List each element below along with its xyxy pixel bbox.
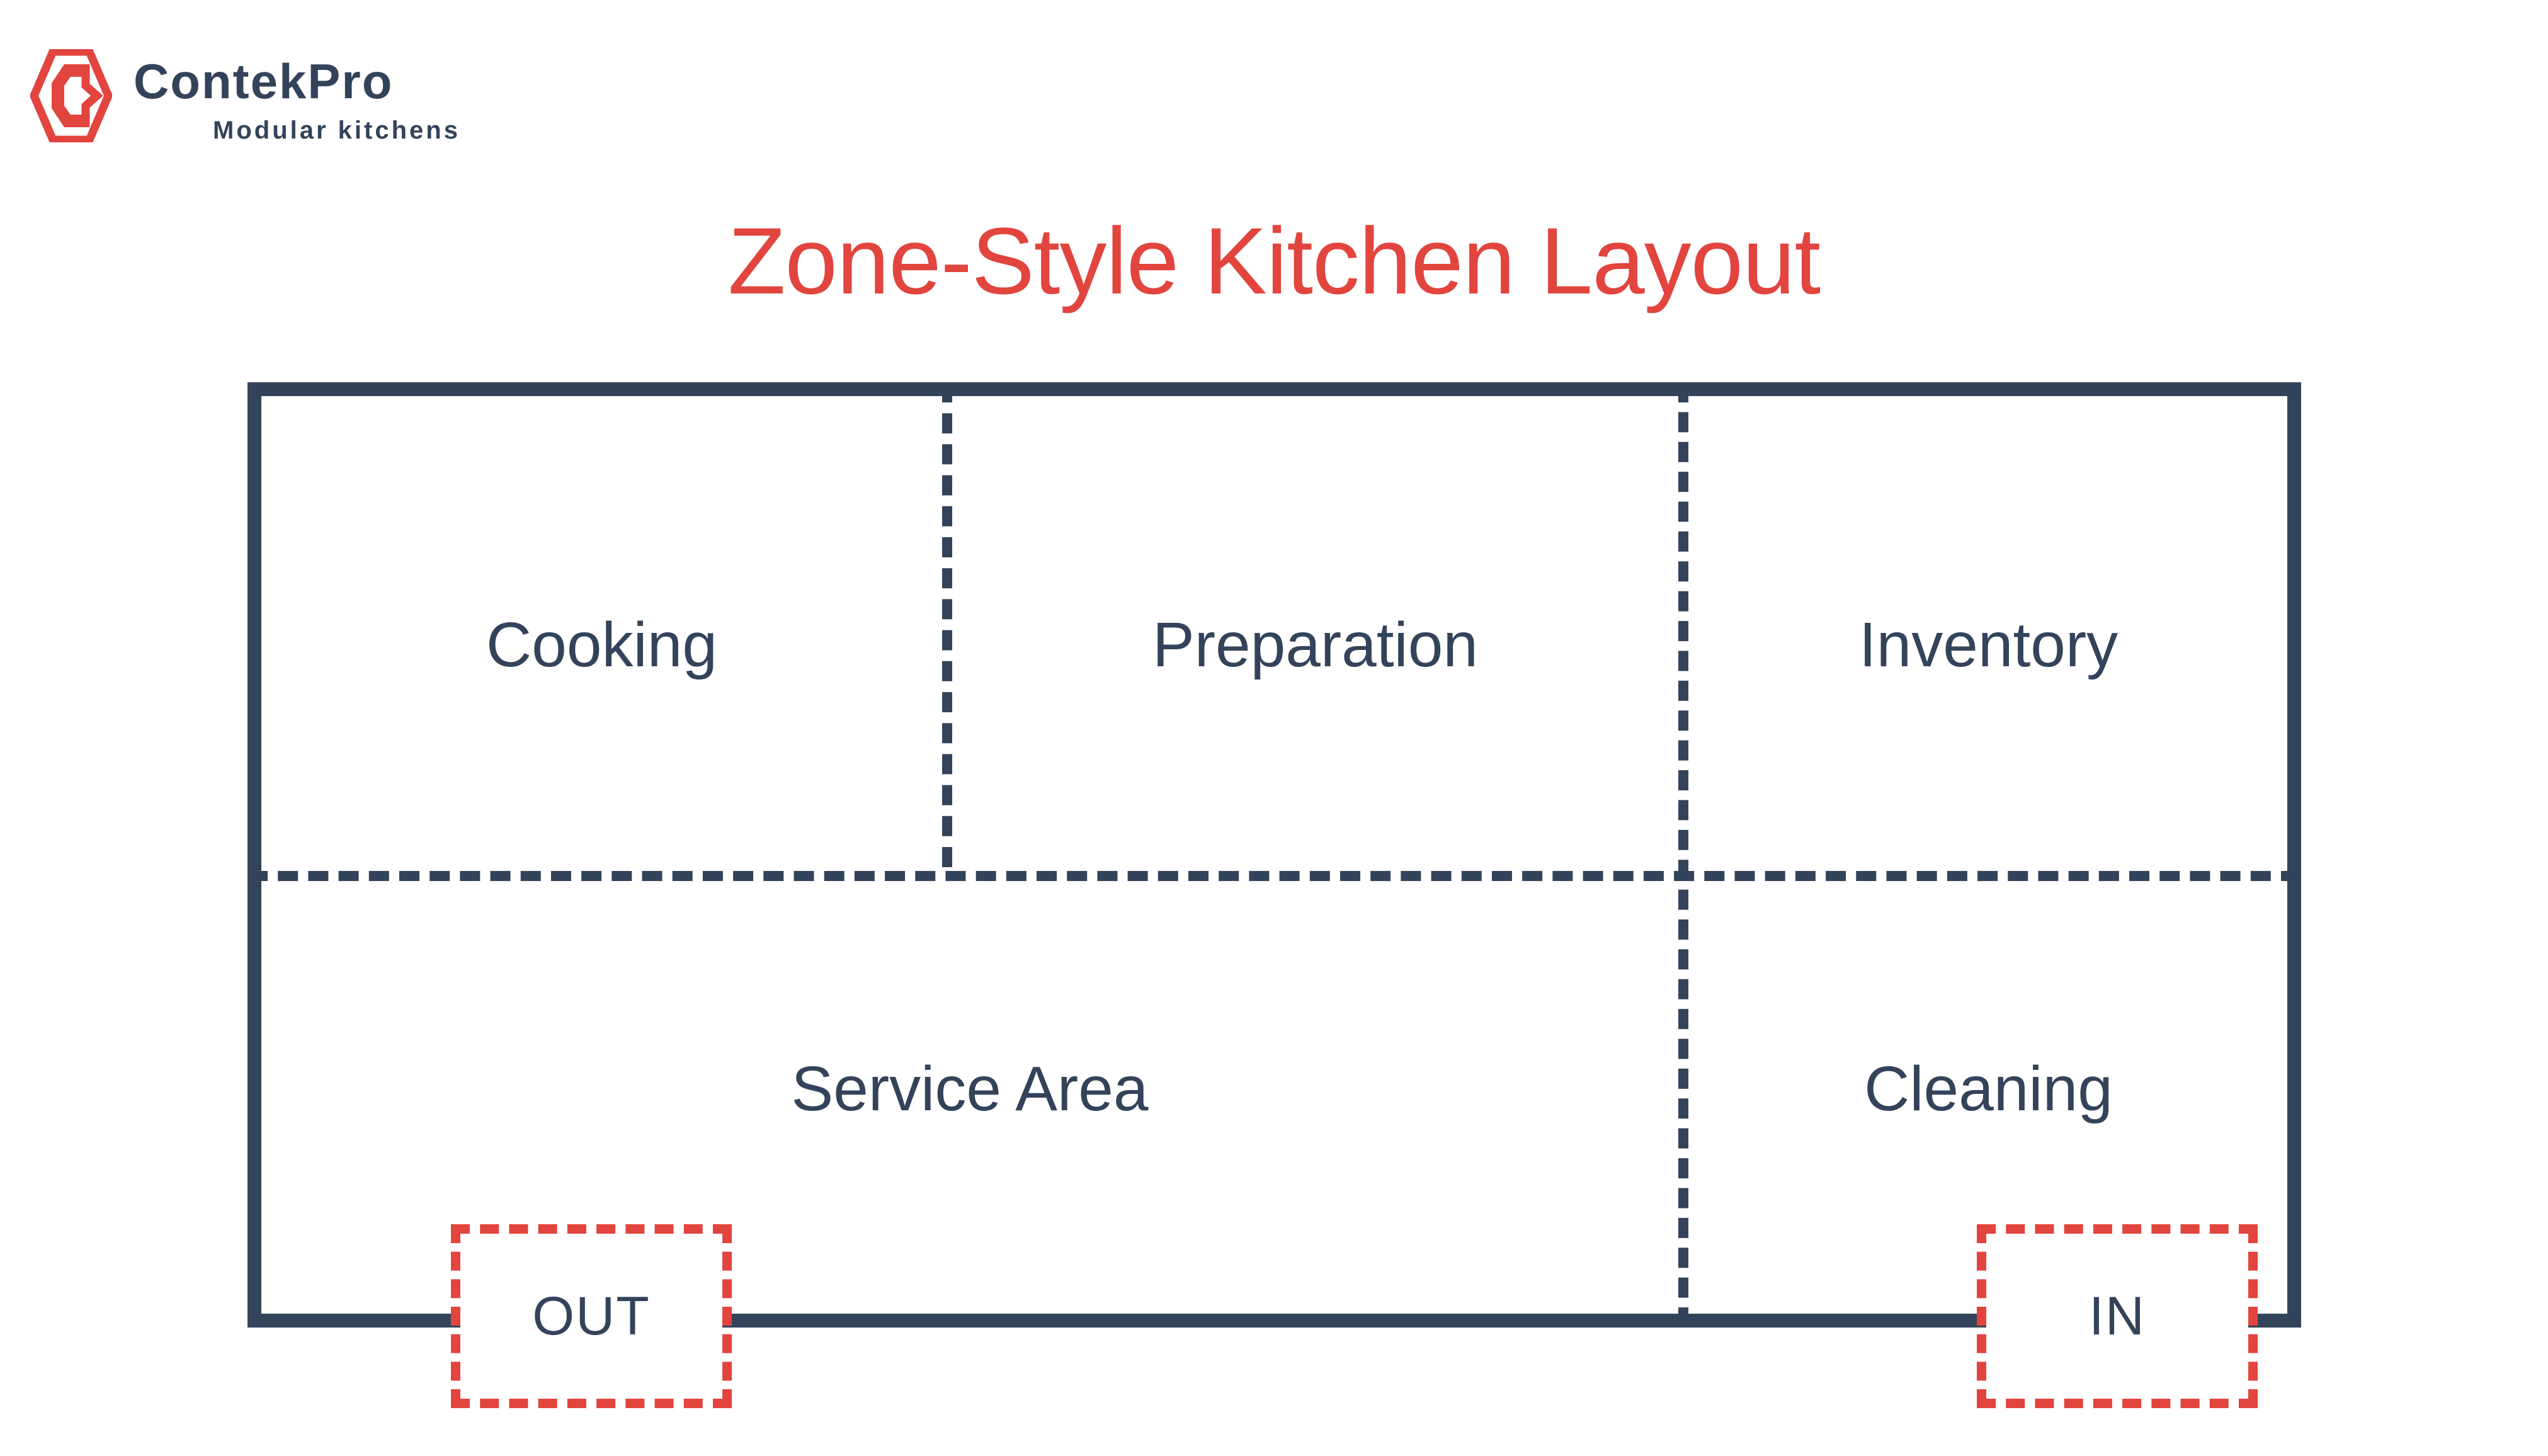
hexagon-c-logo-icon: [30, 49, 112, 142]
zone-label-cooking: Cooking: [261, 613, 942, 676]
door-badge-out: OUT: [451, 1224, 732, 1408]
brand-text-block: ContekPro Modular kitchens: [134, 49, 460, 143]
zone-label-cleaning: Cleaning: [1688, 1057, 2289, 1120]
brand-name: ContekPro: [134, 58, 393, 105]
floorplan-interior: Cooking Preparation Inventory Service Ar…: [261, 396, 2287, 1314]
divider-vertical-full-height: [1678, 382, 1688, 1328]
zone-label-preparation: Preparation: [952, 613, 1678, 676]
divider-vertical-cooking-preparation: [942, 382, 952, 867]
brand-header: ContekPro Modular kitchens: [30, 49, 460, 143]
brand-tagline: Modular kitchens: [213, 118, 460, 143]
zone-label-service-area: Service Area: [261, 1057, 1678, 1120]
zone-label-inventory: Inventory: [1688, 613, 2289, 676]
kitchen-floorplan: Cooking Preparation Inventory Service Ar…: [247, 382, 2301, 1328]
page-title: Zone-Style Kitchen Layout: [0, 210, 2548, 312]
divider-horizontal: [247, 871, 2301, 881]
door-badge-in: IN: [1977, 1224, 2258, 1408]
